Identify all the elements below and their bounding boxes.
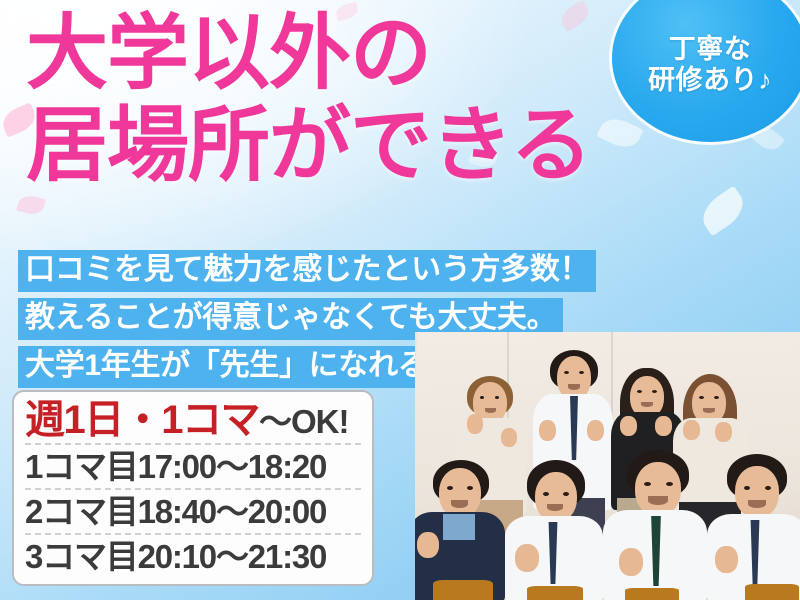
advertisement-banner: 大学以外の 居場所ができる 丁寧な 研修あり♪ 口コミを見て魅力を感じたという方… [0,0,800,600]
petal-icon [696,186,751,237]
eye [637,390,642,393]
schedule-row-label: 3コマ目 [25,538,138,575]
face [735,466,779,518]
smile [748,500,766,508]
hand [515,544,539,572]
hand [587,420,604,441]
schedule-heading: 週1日・1コマ～OK! [25,400,361,440]
schedule-row-time: 18:40～20:00 [138,493,327,530]
highlight-bar-1: 口コミを見て魅力を感じたという方多数！ [18,250,596,292]
eye [666,482,673,486]
schedule-row-time: 17:00～18:20 [138,448,327,485]
schedule-highlight: 週1日・1コマ [25,398,259,442]
headline: 大学以外の 居場所ができる [26,8,666,192]
hand [467,414,483,434]
schedule-row: 3コマ目20:10～21:30 [25,533,361,578]
smile [568,384,580,390]
training-badge-line-1: 丁寧な [669,34,752,65]
eye [495,396,499,399]
hand [539,420,556,441]
chair [625,588,679,600]
eye [447,486,453,490]
eye [543,492,549,496]
face [535,472,577,522]
hand [655,416,672,436]
smile [703,408,715,413]
hand [715,422,732,442]
schedule-row: 1コマ目17:00～18:20 [25,443,361,488]
schedule-row-label: 2コマ目 [25,493,138,530]
petal-icon [16,193,46,217]
hand [619,548,643,576]
schedule-row-label: 1コマ目 [25,448,138,485]
eye [564,371,569,374]
smile [485,408,496,413]
schedule-suffix: ～OK! [259,403,349,440]
hand [620,416,637,436]
smile [451,500,468,508]
eye [652,390,657,393]
eye [744,486,750,490]
eye [714,396,719,399]
eye [644,482,651,486]
staff-group-photo [415,332,800,600]
headline-line-2: 居場所ができる [26,100,666,192]
chair [527,586,583,600]
smile [641,402,653,407]
chair [433,580,493,600]
eye [563,492,569,496]
hand [417,532,439,558]
eye [699,396,704,399]
headline-line-1: 大学以外の [26,8,666,100]
training-badge-line-2: 研修あり♪ [648,65,772,96]
smile [547,504,563,511]
eye [579,371,584,374]
schedule-row-time: 20:10～21:30 [138,538,327,575]
face [439,468,481,518]
schedule-box: 週1日・1コマ～OK! 1コマ目17:00～18:20 2コマ目18:40～20… [12,390,374,586]
face [635,462,681,516]
eye [765,486,771,490]
eye [480,396,484,399]
chair [745,584,799,600]
hand [715,546,738,573]
eye [467,486,473,490]
collar [443,514,475,540]
hand [501,428,517,447]
hand [683,420,700,440]
smile [648,496,668,505]
schedule-row: 2コマ目18:40～20:00 [25,488,361,533]
